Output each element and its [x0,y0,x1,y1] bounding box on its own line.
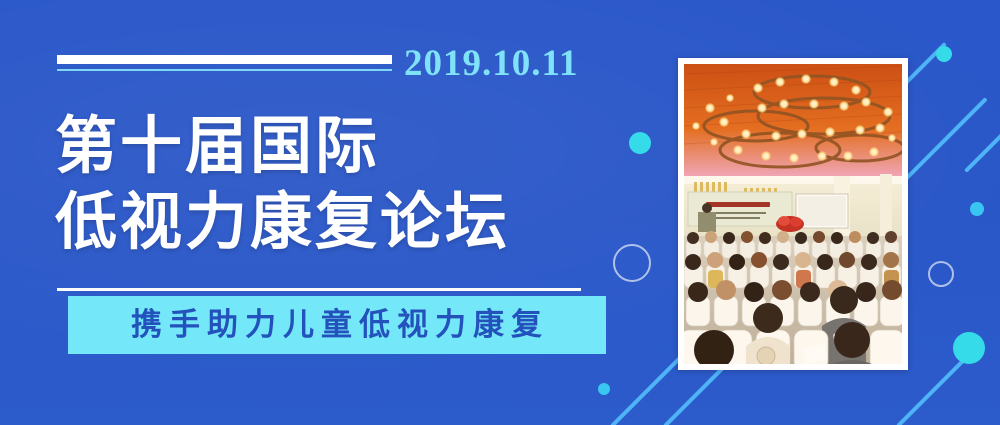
title-line-1: 第十届国际 [55,108,510,184]
ring-right-edge-decoration [928,261,954,287]
header-rule-thin [57,69,392,71]
bottom-right-line-1-decoration [896,347,977,425]
header-rule-thick [57,55,392,64]
event-photo [684,64,902,364]
poster-banner: 2019.10.11 第十届国际 低视力康复论坛 携手助力儿童低视力康复 [0,0,1000,425]
dot-cyan-top-right-decoration [936,46,952,62]
dot-cyan-bottom-center-decoration [598,383,610,395]
dot-cyan-bottom-right-decoration [953,332,985,364]
subtitle-rule [57,288,581,291]
event-date: 2019.10.11 [404,45,578,82]
subtitle-text: 携手助力儿童低视力康复 [125,310,549,341]
event-photo-frame [678,58,908,370]
header-rule-group [57,55,392,71]
subtitle-bar: 携手助力儿童低视力康复 [68,296,606,354]
page-title: 第十届国际 低视力康复论坛 [55,108,510,260]
ring-center-right-decoration [613,244,651,282]
title-line-2: 低视力康复论坛 [55,184,510,260]
event-photo-illustration [684,64,902,364]
dot-cyan-mid-right-decoration [970,202,984,216]
dot-cyan-upper-right-decoration [629,132,651,154]
top-right-line-2-decoration [900,97,988,185]
top-right-line-3-decoration [964,109,1000,173]
